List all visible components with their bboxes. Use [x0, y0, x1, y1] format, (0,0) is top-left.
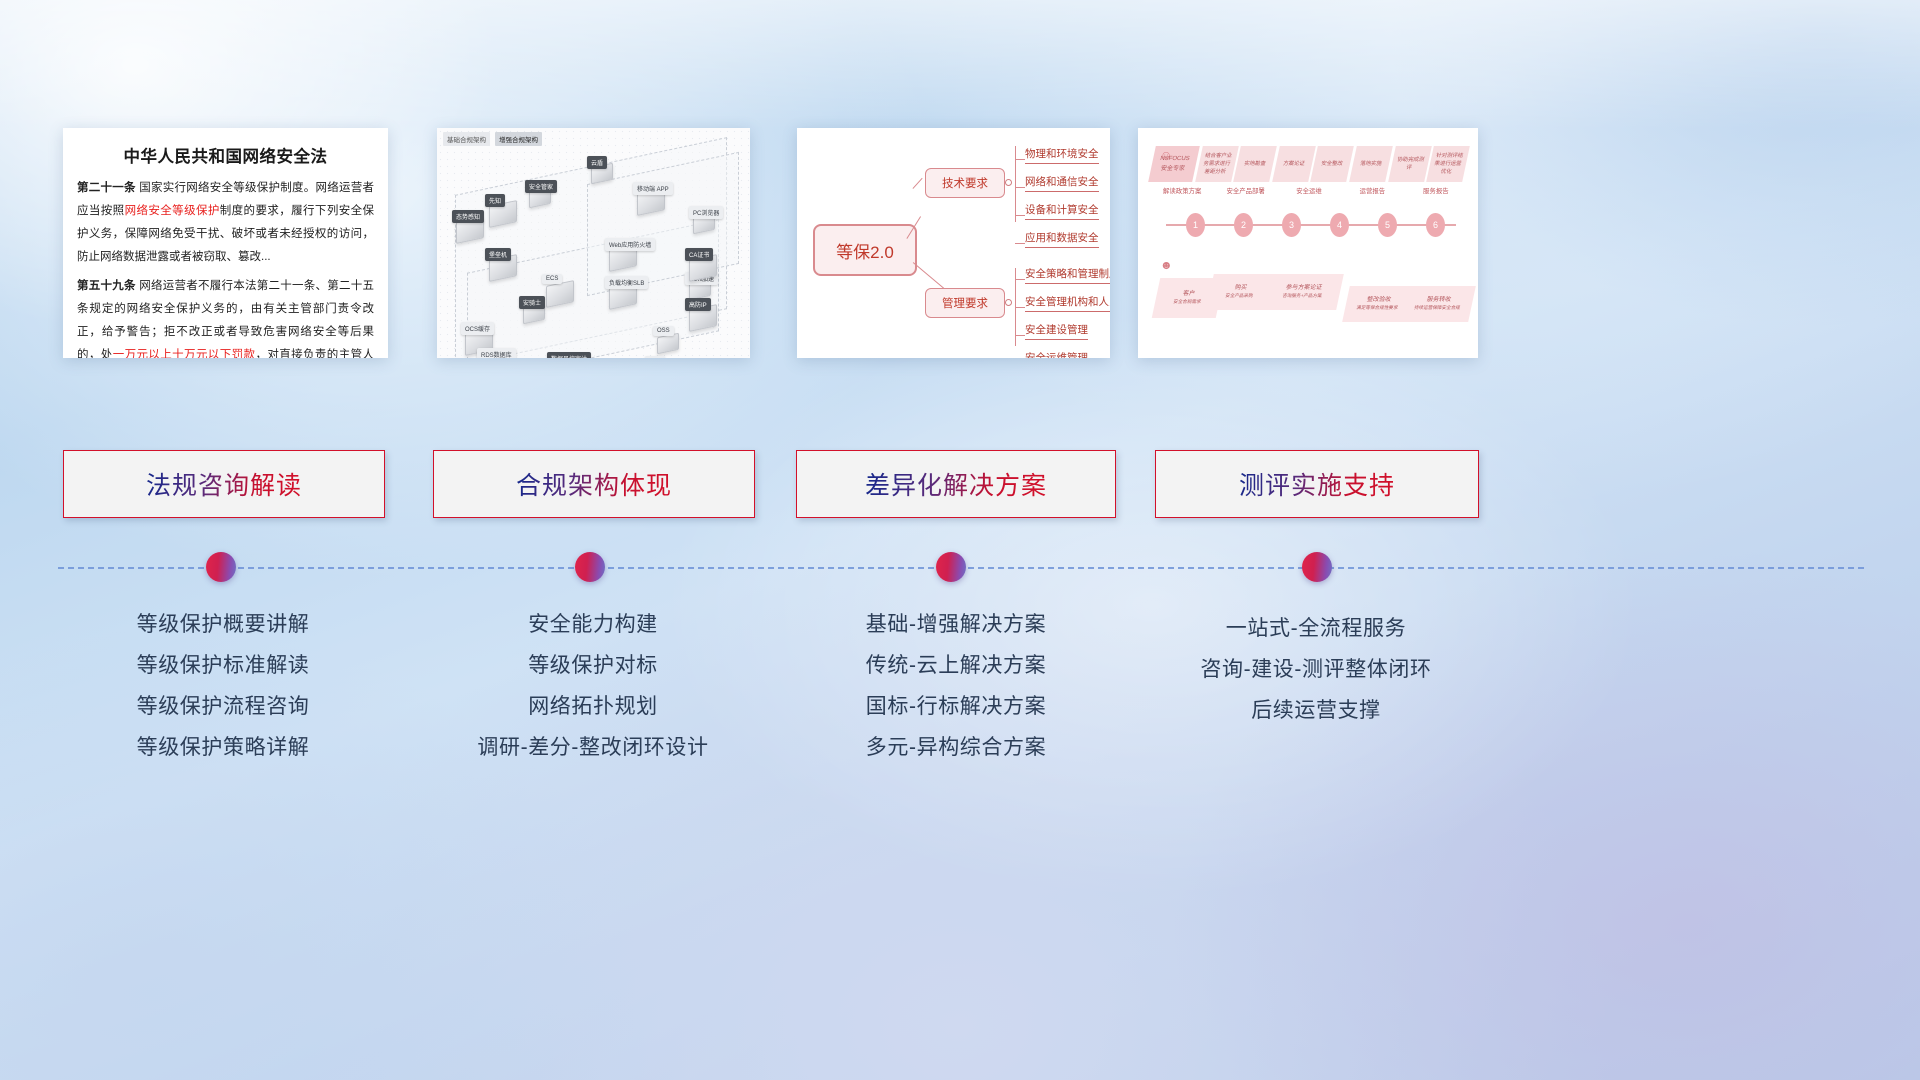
architecture-node-label: OCS缓存 — [461, 322, 494, 335]
architecture-node-label: 移动端 APP — [633, 182, 673, 195]
architecture-node-label: 安骑士 — [519, 296, 545, 309]
mindmap-leaf: 安全策略和管理制度 — [1025, 266, 1110, 284]
nsfocus-sub-label: 运营报告 — [1342, 186, 1402, 200]
detail-column-1: 等级保护概要讲解等级保护标准解读等级保护流程咨询等级保护策略详解 — [63, 604, 383, 768]
tab-basic-compliance[interactable]: 基础合规架构 — [443, 132, 490, 146]
nsfocus-phase-chip: 安全整改 — [1311, 146, 1354, 182]
mindmap-spine-technical — [1015, 146, 1016, 222]
mindmap-branch-technical: 技术要求 — [925, 168, 1005, 198]
timeline-dot-4[interactable] — [1302, 552, 1332, 582]
architecture-node-label: Web应用防火墙 — [605, 238, 655, 251]
nsfocus-sub-label-row: 解读政策方案安全产品部署安全运维运营报告服务报告 — [1152, 186, 1466, 200]
mindmap-dot-technical — [1005, 179, 1012, 186]
nsfocus-step-number: 4 — [1330, 213, 1349, 237]
mindmap-leaf-connector — [1015, 243, 1025, 244]
detail-item: 咨询-建设-测评整体闭环 — [1155, 649, 1477, 690]
law-body: 第二十一条 国家实行网络安全等级保护制度。网络运营者应当按照网络安全等级保护制度… — [63, 177, 388, 358]
detail-item: 等级保护标准解读 — [63, 645, 383, 686]
nsfocus-canvas: NSFOCUS安全专家结合客户业务需求进行差距分析实地勘查方案论证安全整改落地实… — [1138, 128, 1478, 358]
nsfocus-phase-chip: 实地勘查 — [1233, 146, 1276, 182]
mindmap-leaf: 网络和通信安全 — [1025, 174, 1099, 192]
mindmap-leaf: 设备和计算安全 — [1025, 202, 1099, 220]
nsfocus-step-number: 6 — [1426, 213, 1445, 237]
law-article-label-21: 第二十一条 — [77, 182, 136, 194]
detail-column-2: 安全能力构建等级保护对标网络拓扑规划调研-差分-整改闭环设计 — [433, 604, 753, 768]
mindmap-root-node: 等保2.0 — [813, 224, 917, 276]
law-seg-highlight: 网络安全等级保护 — [125, 205, 220, 217]
nsfocus-sub-label: 解读政策方案 — [1152, 186, 1212, 200]
mindmap-leaf-connector — [1015, 215, 1025, 216]
architecture-node-label: PC浏览器 — [689, 206, 723, 219]
headline-label-2: 合规架构体现 — [516, 466, 672, 502]
user-check-icon: ☻ — [1160, 258, 1173, 272]
mindmap-link-root-tech — [912, 178, 922, 189]
mindmap-dot-management — [1005, 299, 1012, 306]
architecture-node-label: 态势感知 — [452, 210, 484, 223]
detail-item: 安全能力构建 — [433, 604, 753, 645]
mindmap-leaf: 应用和数据安全 — [1025, 230, 1099, 248]
law-article-label-59: 第五十九条 — [77, 280, 136, 292]
architecture-node-label: 高防IP — [685, 298, 711, 311]
nsfocus-phase-chip: 方案论证 — [1272, 146, 1315, 182]
user-star-icon: ☺ — [1160, 148, 1172, 162]
headline-label-4: 测评实施支持 — [1239, 466, 1395, 502]
mindmap-leaf-connector — [1015, 279, 1025, 280]
nsfocus-bottom-card: 参与方案论证咨询服务+产品方案 — [1262, 274, 1344, 310]
architecture-node-label: OSS — [653, 326, 674, 336]
nsfocus-bottom-card-title: 客户 — [1182, 290, 1196, 299]
mindmap-leaf: 安全建设管理 — [1025, 322, 1088, 340]
nsfocus-bottom-card-title: 整改验收 — [1366, 296, 1392, 305]
detail-item: 传统-云上解决方案 — [796, 645, 1116, 686]
detail-item: 等级保护流程咨询 — [63, 686, 383, 727]
headline-box-4[interactable]: 测评实施支持 — [1155, 450, 1479, 518]
architecture-node-label: ECS — [542, 274, 562, 284]
nsfocus-phase-chip: 结合客户业务需求进行差距分析 — [1195, 146, 1238, 182]
architecture-node-label: 云盾 — [587, 156, 607, 169]
mindmap-leaf: 物理和环境安全 — [1025, 146, 1099, 164]
nsfocus-bottom-card-title: 参与方案论证 — [1285, 284, 1323, 293]
law-paragraph-59: 第五十九条 网络运营者不履行本法第二十一条、第二十五条规定的网络安全保护义务的，… — [77, 275, 374, 358]
detail-item: 等级保护策略详解 — [63, 727, 383, 768]
tab-enhanced-compliance[interactable]: 增强合规架构 — [495, 132, 542, 146]
nsfocus-top-chip-band: NSFOCUS安全专家结合客户业务需求进行差距分析实地勘查方案论证安全整改落地实… — [1152, 146, 1466, 182]
mindmap-leaf-connector — [1015, 187, 1025, 188]
headline-label-3: 差异化解决方案 — [865, 466, 1047, 502]
detail-column-3: 基础-增强解决方案传统-云上解决方案国标-行标解决方案多元-异构综合方案 — [796, 604, 1116, 768]
nsfocus-bottom-card-title: 购买 — [1234, 284, 1248, 293]
architecture-node-label: RDS数据库 — [477, 348, 516, 358]
nsfocus-lead-chip: NSFOCUS安全专家 — [1148, 146, 1199, 182]
mindmap-branch-management: 管理要求 — [925, 288, 1005, 318]
mindmap-link-root-mgmt — [913, 262, 945, 289]
timeline-dot-1[interactable] — [206, 552, 236, 582]
nsfocus-step-number: 1 — [1186, 213, 1205, 237]
timeline-dot-2[interactable] — [575, 552, 605, 582]
law-paragraph-21: 第二十一条 国家实行网络安全等级保护制度。网络运营者应当按照网络安全等级保护制度… — [77, 177, 374, 269]
mindmap-leaf-connector — [1015, 335, 1025, 336]
mindmap-leaf: 安全管理机构和人员 — [1025, 294, 1110, 312]
detail-item: 国标-行标解决方案 — [796, 686, 1116, 727]
architecture-node-label: 堡垒机 — [485, 248, 511, 261]
nsfocus-timeline-axis — [1166, 224, 1456, 226]
architecture-tabs: 基础合规架构 增强合规架构 — [443, 132, 542, 146]
nsfocus-phase-chip: 落地实施 — [1349, 146, 1392, 182]
mindmap-leaf-connector — [1015, 159, 1025, 160]
detail-item: 一站式-全流程服务 — [1155, 608, 1477, 649]
detail-item: 网络拓扑规划 — [433, 686, 753, 727]
mindmap-canvas: 等保2.0 技术要求 管理要求 物理和环境安全网络和通信安全设备和计算安全应用和… — [797, 128, 1110, 358]
architecture-node-label: 负载均衡SLB — [605, 276, 648, 289]
nsfocus-step-number: 5 — [1378, 213, 1397, 237]
mindmap-leaf-connector — [1015, 307, 1025, 308]
detail-item: 等级保护概要讲解 — [63, 604, 383, 645]
nsfocus-sub-label: 安全产品部署 — [1215, 186, 1275, 200]
law-title: 中华人民共和国网络安全法 — [63, 143, 388, 167]
nsfocus-step-number: 2 — [1234, 213, 1253, 237]
card-architecture-diagram: 基础合规架构 增强合规架构 安全管家先知态势感知云盾堡垒机ECS安骑士OCS缓存… — [437, 128, 750, 358]
mindmap-leaf: 安全运维管理 — [1025, 350, 1088, 358]
nsfocus-bottom-card-sub: 安全产品采购 — [1225, 293, 1254, 300]
nsfocus-bottom-card-sub: 咨询服务+产品方案 — [1282, 293, 1323, 300]
detail-item: 等级保护对标 — [433, 645, 753, 686]
nsfocus-bottom-card-sub: 持续运营保障安全合规 — [1413, 305, 1460, 312]
headline-box-2[interactable]: 合规架构体现 — [433, 450, 755, 518]
nsfocus-bottom-card: 服务转收持续运营保障安全合规 — [1400, 286, 1476, 322]
nsfocus-phase-chip: 协助完成测评 — [1388, 146, 1431, 182]
nsfocus-lead-line2: 安全专家 — [1160, 165, 1186, 174]
architecture-node-label: 安全管家 — [525, 180, 557, 193]
architecture-node-label: VPC — [645, 356, 665, 358]
card-law-text: 中华人民共和国网络安全法 第二十一条 国家实行网络安全等级保护制度。网络运营者应… — [63, 128, 388, 358]
detail-item: 多元-异构综合方案 — [796, 727, 1116, 768]
nsfocus-sub-label: 安全运维 — [1279, 186, 1339, 200]
headline-box-1[interactable]: 法规咨询解读 — [63, 450, 385, 518]
nsfocus-bottom-card-sub: 安全合规需求 — [1173, 299, 1202, 306]
architecture-canvas: 基础合规架构 增强合规架构 安全管家先知态势感知云盾堡垒机ECS安骑士OCS缓存… — [437, 128, 750, 358]
card-mindmap: 等保2.0 技术要求 管理要求 物理和环境安全网络和通信安全设备和计算安全应用和… — [797, 128, 1110, 358]
detail-column-4: 一站式-全流程服务咨询-建设-测评整体闭环后续运营支撑 — [1155, 608, 1477, 731]
nsfocus-bottom-card-sub: 满足等保合规性要求 — [1356, 305, 1399, 312]
headline-box-3[interactable]: 差异化解决方案 — [796, 450, 1116, 518]
detail-item: 后续运营支撑 — [1155, 690, 1477, 731]
headline-label-1: 法规咨询解读 — [146, 466, 302, 502]
card-nsfocus-timeline: NSFOCUS安全专家结合客户业务需求进行差距分析实地勘查方案论证安全整改落地实… — [1138, 128, 1478, 358]
architecture-node-label: 先知 — [485, 194, 505, 207]
detail-item: 基础-增强解决方案 — [796, 604, 1116, 645]
timeline-dot-3[interactable] — [936, 552, 966, 582]
law-seg-highlight: 一万元以上十万元以下罚款 — [113, 349, 256, 358]
architecture-node-label: CA证书 — [685, 248, 713, 261]
nsfocus-bottom-card-title: 服务转收 — [1426, 296, 1452, 305]
nsfocus-sub-label: 服务报告 — [1406, 186, 1466, 200]
detail-item: 调研-差分-整改闭环设计 — [433, 727, 753, 768]
architecture-node-label: 数据风控审计 — [547, 352, 591, 358]
nsfocus-phase-chip: 针对测评结果进行运营优化 — [1427, 146, 1470, 182]
nsfocus-step-number: 3 — [1282, 213, 1301, 237]
